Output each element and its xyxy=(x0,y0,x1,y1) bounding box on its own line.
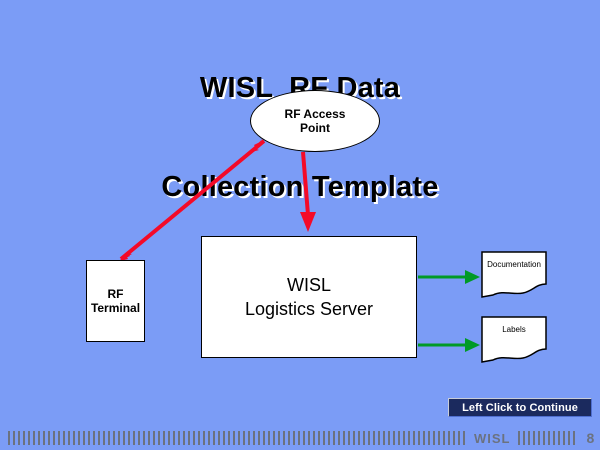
connector-server-to-labels xyxy=(418,338,480,352)
node-labels-document[interactable]: Labels xyxy=(481,316,547,364)
page-title-line-2: Collection Template xyxy=(0,171,600,204)
node-rf-terminal[interactable]: RF Terminal xyxy=(86,260,145,342)
node-logistics-server-label: WISL Logistics Server xyxy=(245,273,373,321)
node-logistics-server[interactable]: WISL Logistics Server xyxy=(201,236,417,358)
node-labels-document-label: Labels xyxy=(481,325,547,335)
footer-bar: WISL 8 xyxy=(0,428,600,448)
node-rf-access-point-label-line-1: RF Access xyxy=(285,107,346,121)
node-rf-access-point-label-line-2: Point xyxy=(285,121,346,135)
left-click-to-continue-button-label: Left Click to Continue xyxy=(462,402,578,414)
node-rf-access-point-label: RF Access Point xyxy=(285,107,346,135)
barcode-bars-right xyxy=(518,431,578,445)
node-rf-terminal-label-line-2: Terminal xyxy=(91,301,140,315)
left-click-to-continue-button[interactable]: Left Click to Continue xyxy=(448,398,592,417)
node-logistics-server-label-line-2: Logistics Server xyxy=(245,297,373,321)
document-icon xyxy=(481,251,547,299)
node-rf-terminal-label: RF Terminal xyxy=(91,287,140,315)
node-rf-terminal-label-line-1: RF xyxy=(91,287,140,301)
barcode-bars-left xyxy=(8,431,466,445)
node-documentation-document-label: Documentation xyxy=(481,260,547,270)
node-logistics-server-label-line-1: WISL xyxy=(245,273,373,297)
node-documentation-document[interactable]: Documentation xyxy=(481,251,547,299)
connector-server-to-documentation xyxy=(418,270,480,284)
footer-title: WISL xyxy=(474,431,511,446)
slide-canvas: WISL RF Data Collection Template xyxy=(0,0,600,450)
footer-page-number: 8 xyxy=(587,430,595,446)
document-icon xyxy=(481,316,547,364)
node-rf-access-point[interactable]: RF Access Point xyxy=(250,90,380,152)
